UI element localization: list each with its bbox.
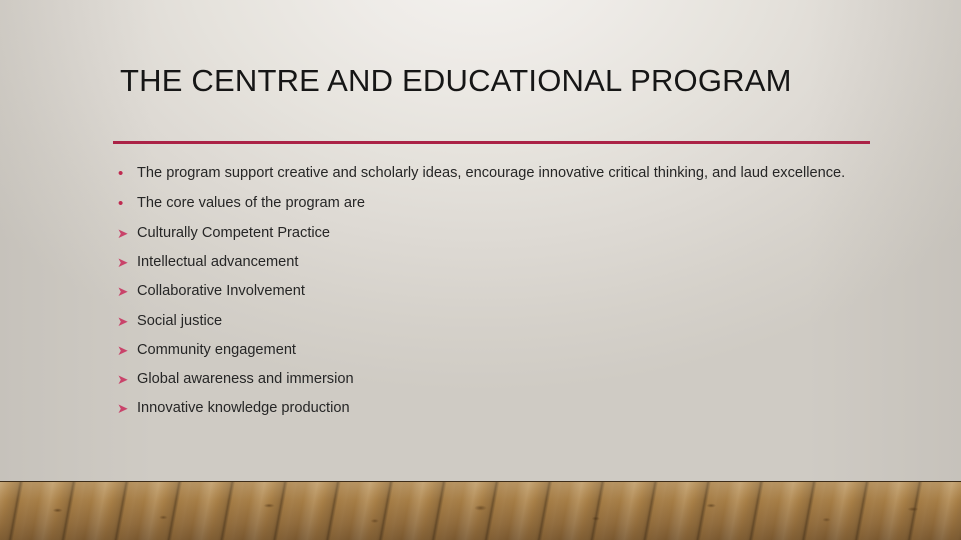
arrow-bullet-icon: ➤ [113, 252, 137, 273]
floor-knot-marks [0, 482, 961, 540]
arrow-bullet-icon: ➤ [113, 311, 137, 332]
list-item-label: Culturally Competent Practice [137, 223, 873, 244]
list-item-label: Collaborative Involvement [137, 281, 873, 302]
presentation-slide: THE CENTRE AND EDUCATIONAL PROGRAM •The … [0, 0, 961, 540]
list-item: •The core values of the program are [113, 193, 873, 214]
list-item: •The program support creative and schola… [113, 163, 873, 184]
arrow-bullet-icon: ➤ [113, 369, 137, 390]
list-item: ➤Community engagement [113, 340, 873, 361]
title-divider-rule [113, 141, 870, 144]
list-item: ➤Global awareness and immersion [113, 369, 873, 390]
list-item-label: The program support creative and scholar… [137, 163, 873, 184]
list-item: ➤Social justice [113, 311, 873, 332]
list-item-label: Social justice [137, 311, 873, 332]
list-item: ➤Collaborative Involvement [113, 281, 873, 302]
bullet-dot-icon: • [113, 193, 138, 214]
list-item-label: Innovative knowledge production [137, 398, 873, 419]
list-item: ➤Innovative knowledge production [113, 398, 873, 419]
arrow-bullet-icon: ➤ [113, 223, 137, 244]
list-item: ➤Intellectual advancement [113, 252, 873, 273]
arrow-bullet-icon: ➤ [113, 281, 137, 302]
slide-title: THE CENTRE AND EDUCATIONAL PROGRAM [120, 60, 880, 102]
list-item-label: Global awareness and immersion [137, 369, 873, 390]
slide-body-list: •The program support creative and schola… [113, 163, 873, 427]
list-item-label: Community engagement [137, 340, 873, 361]
arrow-bullet-icon: ➤ [113, 398, 137, 419]
list-item-label: The core values of the program are [137, 193, 873, 214]
arrow-bullet-icon: ➤ [113, 340, 137, 361]
list-item-label: Intellectual advancement [137, 252, 873, 273]
list-item: ➤Culturally Competent Practice [113, 223, 873, 244]
bullet-dot-icon: • [113, 163, 138, 184]
wooden-floor [0, 481, 961, 540]
